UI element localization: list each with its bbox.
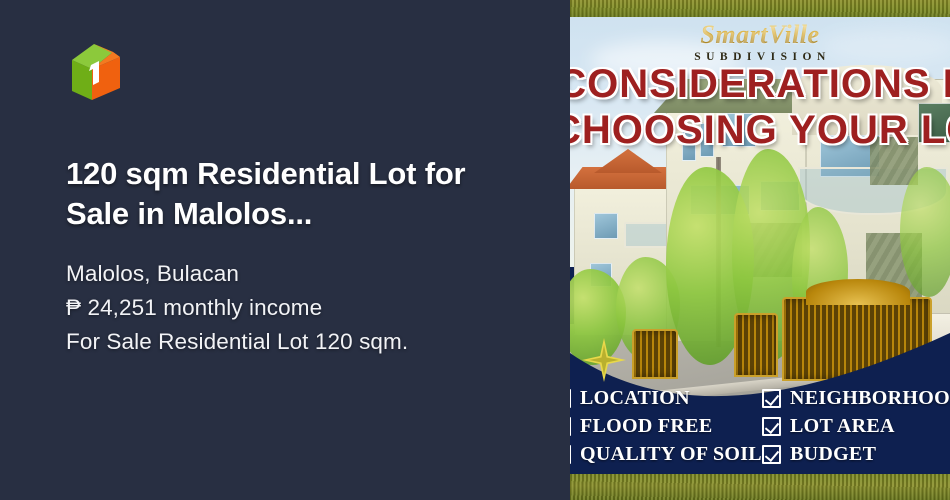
grass-strip-top — [570, 0, 950, 17]
listing-description: For Sale Residential Lot 120 sqm. — [66, 325, 520, 359]
gold-gate-small — [734, 313, 778, 377]
gold-gate — [782, 297, 932, 381]
checklist-label: LOT AREA — [790, 415, 895, 438]
considerations-checklist: LOCATION FLOOD FREE QUALITY OF SOIL NEIG… — [570, 387, 950, 474]
checklist-label: FLOOD FREE — [580, 415, 712, 438]
checklist-item: QUALITY OF SOIL — [570, 443, 762, 466]
tree — [900, 167, 950, 297]
checkbox-checked-icon — [570, 445, 571, 464]
checkbox-checked-icon — [762, 417, 781, 436]
checklist-item: LOCATION — [570, 387, 762, 410]
listing-image-panel[interactable]: SmartVille SUBDIVISION CONSIDERATIONS IN… — [570, 0, 950, 500]
checklist-item: LOT AREA — [762, 415, 950, 438]
page-title: 120 sqm Residential Lot for Sale in Malo… — [66, 154, 520, 235]
brand-script-text: SmartVille — [570, 22, 950, 48]
headline-line-2: CHOOSING YOUR LOT — [570, 108, 950, 153]
checklist-item: FLOOD FREE — [570, 415, 762, 438]
listing-info-panel: 120 sqm Residential Lot for Sale in Malo… — [0, 0, 570, 500]
listing-meta-list: Malolos, Bulacan ₱ 24,251 monthly income… — [66, 257, 520, 360]
checklist-label: BUDGET — [790, 443, 876, 466]
checkbox-checked-icon — [762, 389, 781, 408]
checkbox-checked-icon — [762, 445, 781, 464]
window — [594, 213, 618, 239]
checklist-label: LOCATION — [580, 387, 690, 410]
house-number-one-logo-icon[interactable] — [66, 36, 126, 106]
balcony — [624, 222, 668, 248]
four-point-star-icon — [582, 338, 626, 382]
checklist-label: NEIGHBORHOOD — [790, 387, 950, 410]
checklist-label: QUALITY OF SOIL — [580, 443, 762, 466]
listing-image: SmartVille SUBDIVISION CONSIDERATIONS IN… — [570, 0, 950, 500]
checklist-column-left: LOCATION FLOOD FREE QUALITY OF SOIL — [570, 387, 762, 466]
checkbox-checked-icon — [570, 417, 571, 436]
smartville-logo: SmartVille SUBDIVISION — [570, 22, 950, 63]
grass-strip-bottom — [570, 474, 950, 500]
checklist-column-right: NEIGHBORHOOD LOT AREA BUDGET — [762, 387, 950, 466]
checklist-item: BUDGET — [762, 443, 950, 466]
property-listing-card[interactable]: 120 sqm Residential Lot for Sale in Malo… — [0, 0, 950, 500]
listing-location: Malolos, Bulacan — [66, 257, 520, 291]
headline-line-1: CONSIDERATIONS IN — [570, 62, 950, 107]
checkbox-checked-icon — [570, 389, 571, 408]
checklist-item: NEIGHBORHOOD — [762, 387, 950, 410]
gate-crest — [806, 279, 910, 305]
gold-gate-small — [632, 329, 678, 379]
listing-price: ₱ 24,251 monthly income — [66, 291, 520, 325]
